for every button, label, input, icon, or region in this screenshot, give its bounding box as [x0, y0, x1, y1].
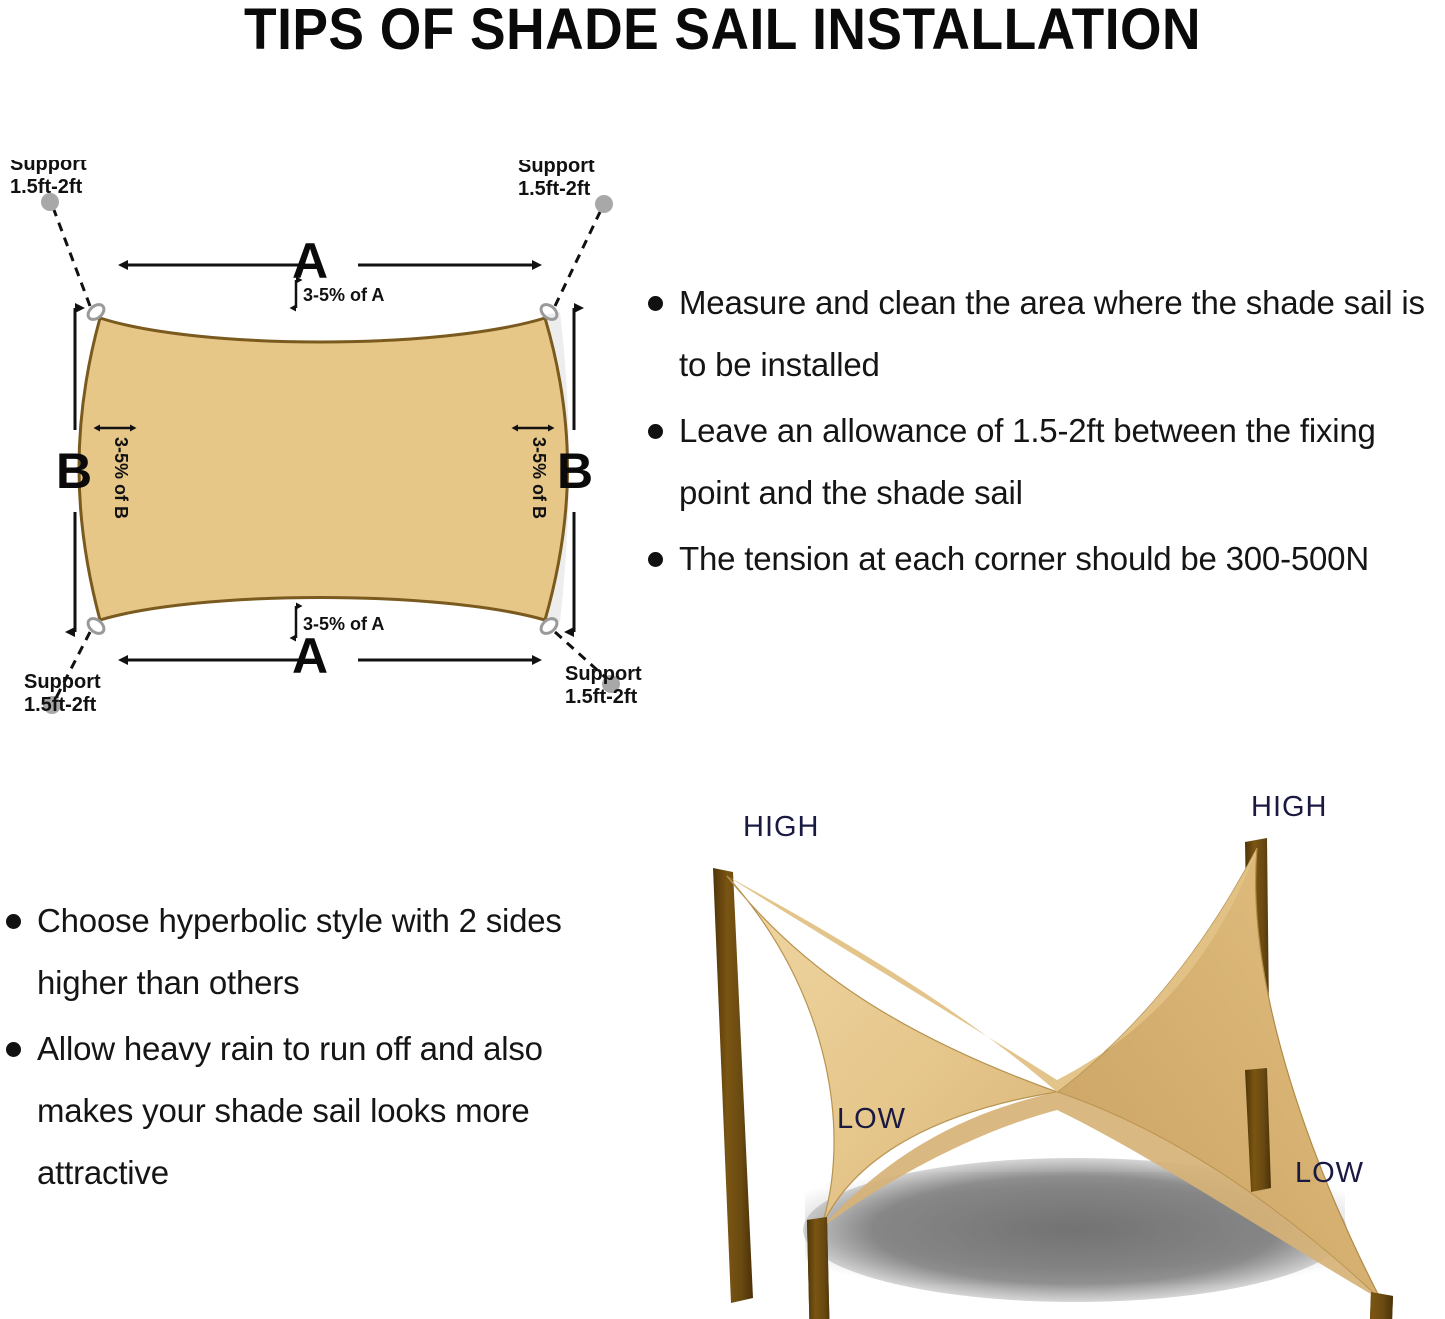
bullet-dot-icon [648, 552, 663, 567]
support-label-line2: 1.5ft-2ft [24, 694, 97, 716]
support-label-top-right: Support 1.5ft-2ft [518, 160, 595, 200]
bullet-dot-icon [648, 424, 663, 439]
dimension-label-b-left: B [56, 443, 92, 499]
support-dot-top-right [595, 195, 613, 213]
tip-text: Allow heavy rain to run off and also mak… [37, 1018, 626, 1204]
support-label-line1: Support [24, 671, 101, 693]
list-item: Measure and clean the area where the sha… [648, 272, 1445, 396]
tip-text: Measure and clean the area where the sha… [679, 272, 1445, 396]
curve-depth-label-right: 3-5% of B [529, 437, 549, 519]
support-label-bottom-right: Support 1.5ft-2ft [565, 663, 642, 708]
rect-sail-diagram: Support 1.5ft-2ft Support 1.5ft-2ft Supp… [0, 160, 660, 730]
sail-shape [79, 318, 568, 620]
support-label-line1: Support [565, 663, 642, 685]
label-high-left: HIGH [743, 811, 820, 843]
dimension-label-b-right: B [557, 443, 593, 499]
tip-text: Leave an allowance of 1.5-2ft between th… [679, 400, 1445, 524]
bullet-dot-icon [6, 914, 21, 929]
tips-list-bottom-left: Choose hyperbolic style with 2 sides hig… [6, 890, 626, 1208]
infographic-page: TIPS OF SHADE SAIL INSTALLATION [0, 0, 1445, 1319]
support-label-line1: Support [10, 160, 87, 175]
label-low-left: LOW [837, 1103, 906, 1135]
bullet-dot-icon [6, 1042, 21, 1057]
support-label-bottom-left: Support 1.5ft-2ft [24, 671, 101, 716]
tip-text: The tension at each corner should be 300… [679, 528, 1445, 590]
support-label-top-left: Support 1.5ft-2ft [10, 160, 87, 198]
list-item: Leave an allowance of 1.5-2ft between th… [648, 400, 1445, 524]
bullet-dot-icon [648, 296, 663, 311]
tips-list-right: Measure and clean the area where the sha… [648, 272, 1445, 594]
dimension-label-a-bottom: A [292, 628, 328, 684]
hyperbolic-sail-diagram: HIGH HIGH LOW LOW [645, 780, 1445, 1319]
curve-depth-label-bottom: 3-5% of A [303, 614, 384, 634]
support-label-line1: Support [518, 160, 595, 177]
tip-text: Choose hyperbolic style with 2 sides hig… [37, 890, 626, 1014]
support-label-line2: 1.5ft-2ft [10, 176, 83, 198]
list-item: Allow heavy rain to run off and also mak… [6, 1018, 626, 1204]
post-low-right-front [1361, 1292, 1393, 1319]
dimension-label-a-top: A [292, 233, 328, 289]
list-item: Choose hyperbolic style with 2 sides hig… [6, 890, 626, 1014]
label-low-right: LOW [1295, 1157, 1364, 1189]
list-item: The tension at each corner should be 300… [648, 528, 1445, 590]
curve-depth-label-top: 3-5% of A [303, 285, 384, 305]
curve-depth-label-left: 3-5% of B [111, 437, 131, 519]
post-high-left [713, 868, 753, 1303]
support-label-line2: 1.5ft-2ft [518, 178, 591, 200]
support-label-line2: 1.5ft-2ft [565, 686, 638, 708]
page-title: TIPS OF SHADE SAIL INSTALLATION [58, 0, 1387, 62]
label-high-right: HIGH [1251, 791, 1328, 823]
